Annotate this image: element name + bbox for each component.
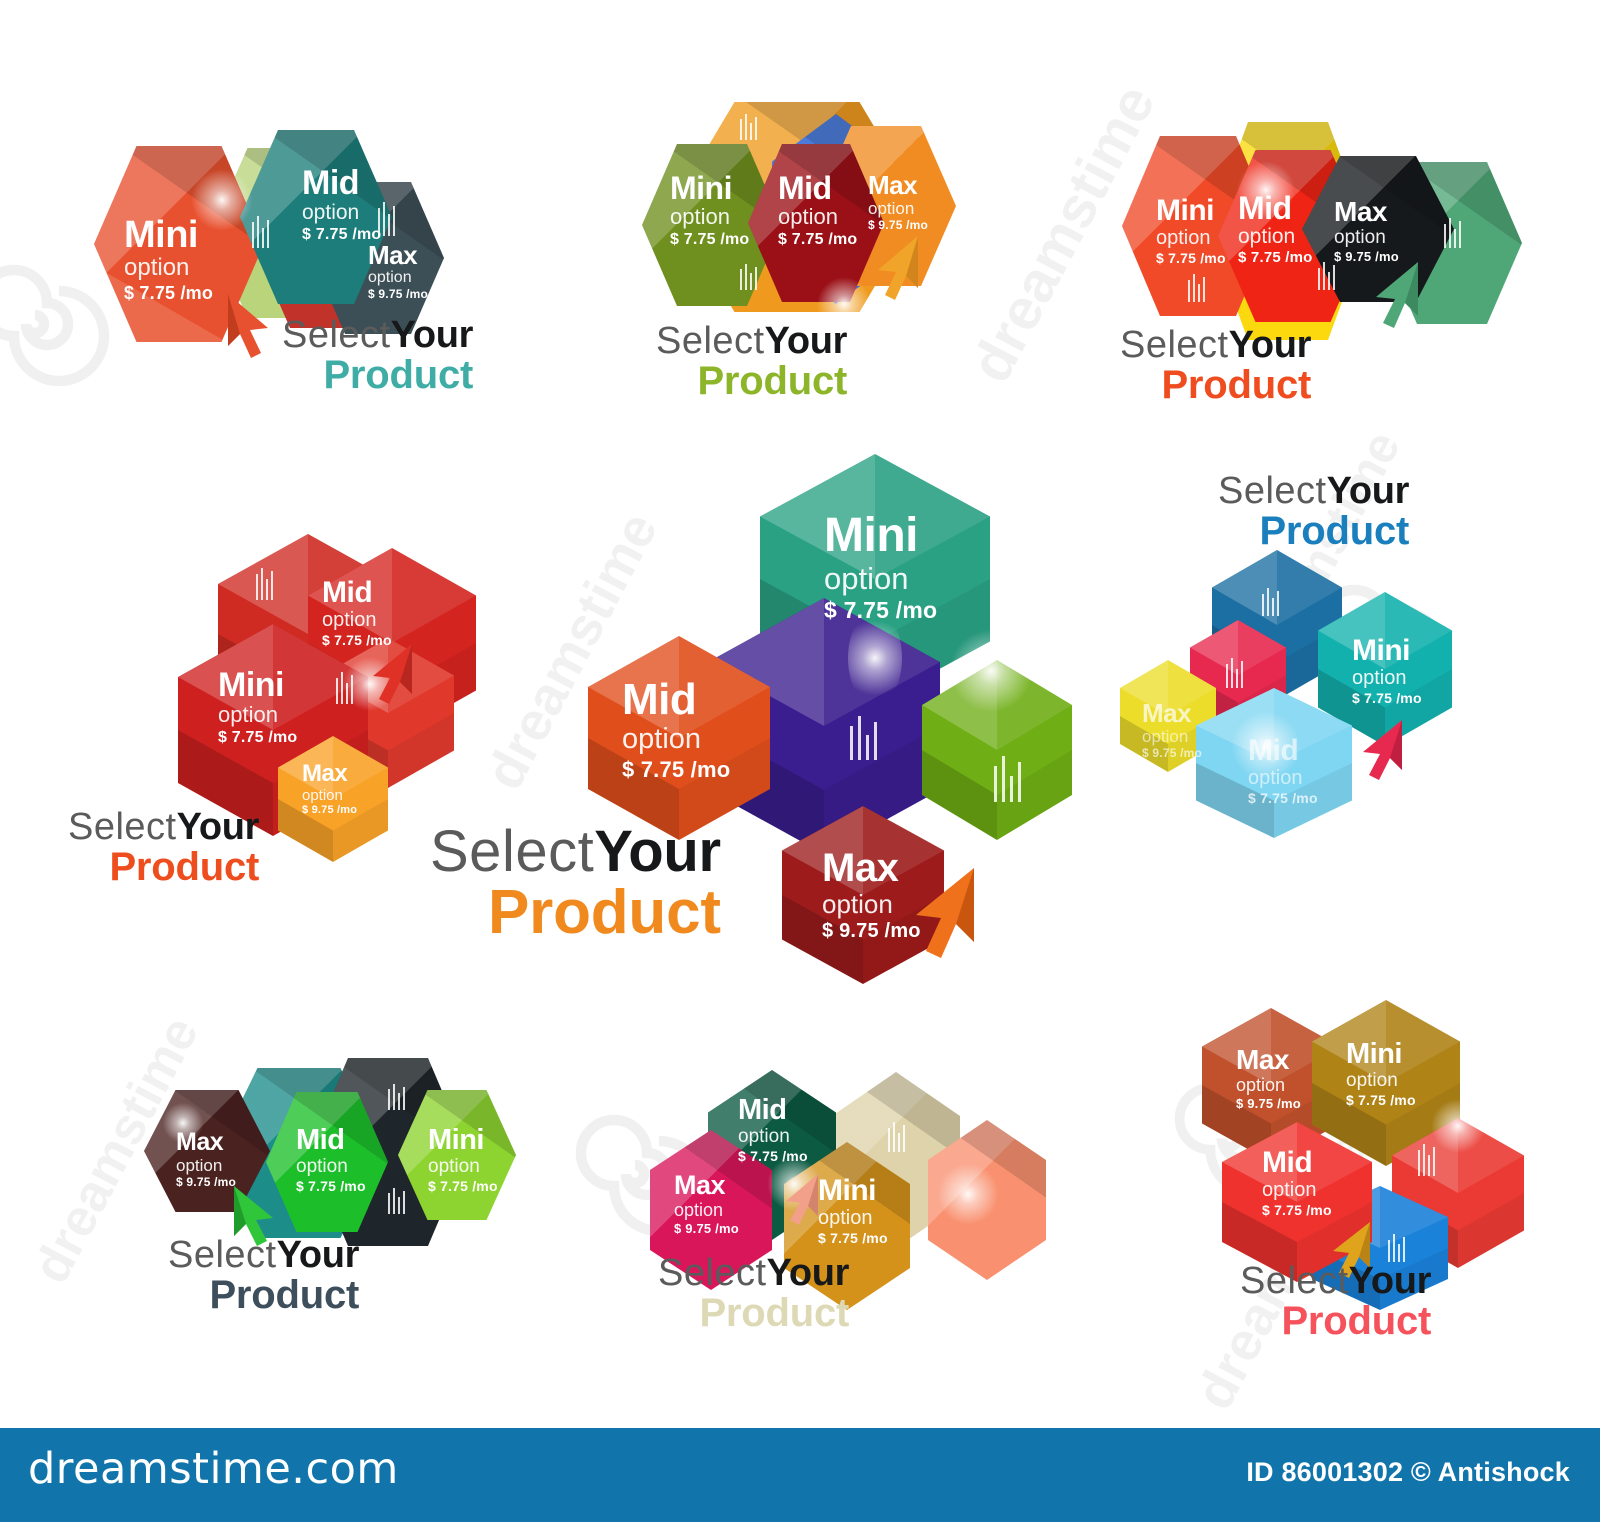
unit-7[interactable]: Max option $ 9.75 /mo Mid option $ 7.75 … [130, 1030, 560, 1330]
unit-4[interactable]: Mid option $ 7.75 /mo Mini option $ 7.75… [60, 520, 460, 860]
headline-product: Product [656, 361, 847, 402]
headline-lockup: SelectYour Product [430, 822, 721, 944]
headline-select: Select [656, 320, 765, 362]
headline-lockup: SelectYour Product [1240, 1262, 1431, 1342]
unit-8[interactable]: Mid option $ 7.75 /mo Max option $ 9.75 … [610, 1030, 1040, 1330]
headline-product: Product [658, 1293, 849, 1334]
headline-lockup: SelectYour Product [1120, 326, 1311, 406]
headline-lockup: SelectYour Product [282, 316, 473, 396]
headline-select: Select [1240, 1260, 1349, 1302]
headline-your: Your [177, 806, 260, 848]
unit-9[interactable]: Max option $ 9.75 /mo Mini option $ 7.75… [1130, 990, 1560, 1370]
option-cube-green[interactable] [922, 660, 1072, 840]
headline-lockup: SelectYour Product [658, 1254, 849, 1334]
headline-your: Your [1327, 470, 1410, 512]
unit-3[interactable]: Mini option $ 7.75 /mo Mid option $ 7.75… [1090, 110, 1550, 410]
headline-your: Your [391, 314, 474, 356]
image-credit: ID 86001302 © Antishock [1246, 1457, 1570, 1488]
headline-lockup: SelectYour Product [1218, 472, 1409, 552]
headline-your: Your [594, 819, 721, 884]
headline-your: Your [1349, 1260, 1432, 1302]
headline-your: Your [765, 320, 848, 362]
headline-select: Select [168, 1234, 277, 1276]
headline-select: Select [658, 1252, 767, 1294]
headline-product: Product [1240, 1301, 1431, 1342]
headline-lockup: SelectYour Product [68, 808, 259, 888]
headline-select: Select [68, 806, 177, 848]
unit-5[interactable]: Mini option $ 7.75 /mo Mid option $ 7.75… [560, 450, 1090, 980]
headline-product: Product [1218, 511, 1409, 552]
headline-product: Product [282, 355, 473, 396]
unit-6[interactable]: Mini option $ 7.75 /mo Mid option $ 7.75… [1090, 460, 1550, 830]
headline-select: Select [1218, 470, 1327, 512]
headline-product: Product [68, 847, 259, 888]
headline-select: Select [1120, 324, 1229, 366]
headline-select: Select [430, 819, 594, 884]
headline-lockup: SelectYour Product [656, 322, 847, 402]
unit-1[interactable]: Mini option $ 7.75 /mo Mid option $ 7.75… [80, 120, 530, 410]
headline-product: Product [1120, 365, 1311, 406]
headline-product: Product [430, 881, 721, 944]
illustration-canvas: dreamstime dreamstime dreamstime dreamst… [0, 0, 1600, 1428]
headline-your: Your [1229, 324, 1312, 366]
dreamstime-logo[interactable]: dreamstime.com [28, 1444, 399, 1494]
headline-product: Product [168, 1275, 359, 1316]
stock-footer-bar: dreamstime.com ID 86001302 © Antishock [0, 1428, 1600, 1522]
headline-your: Your [277, 1234, 360, 1276]
headline-select: Select [282, 314, 391, 356]
headline-your: Your [767, 1252, 850, 1294]
headline-lockup: SelectYour Product [168, 1236, 359, 1316]
unit-2[interactable]: Mini option $ 7.75 /mo Mid option $ 7.75… [620, 100, 1050, 410]
